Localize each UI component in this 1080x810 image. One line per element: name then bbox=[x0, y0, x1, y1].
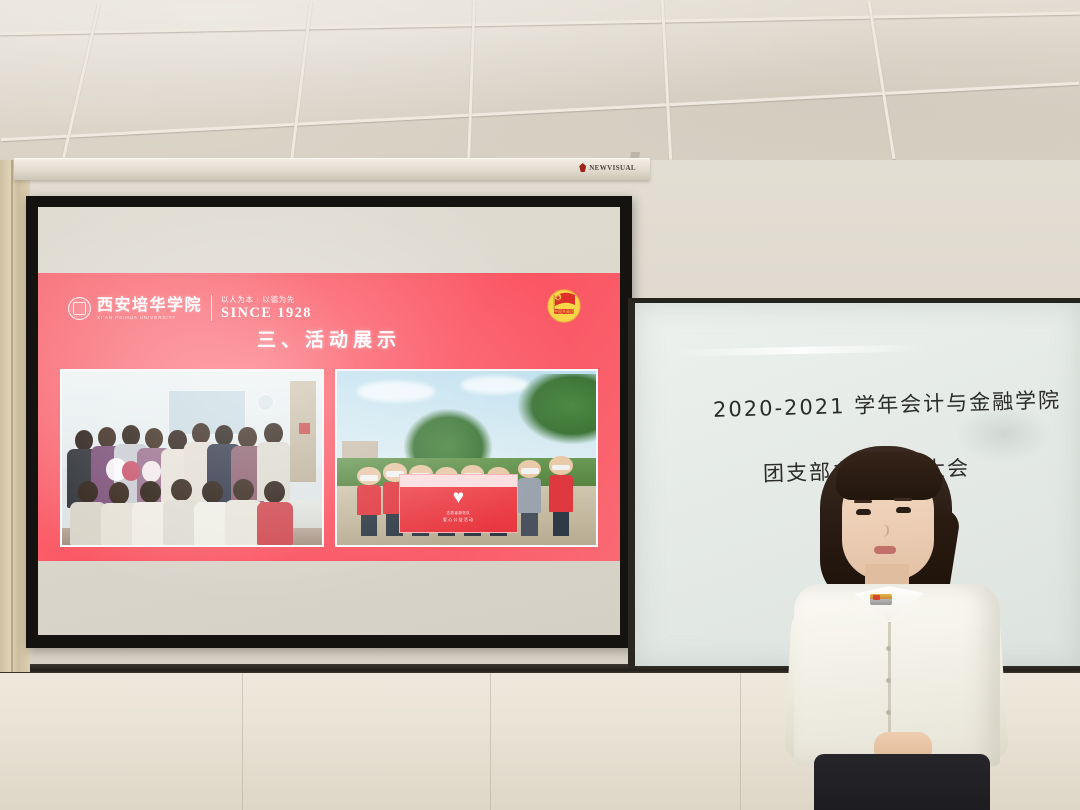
motto-block: 以人为本 · 以德为先 SINCE 1928 bbox=[221, 294, 312, 321]
projector-screen-case: NEWVISUAL bbox=[14, 158, 650, 180]
photo-person-head bbox=[192, 423, 210, 444]
classroom-scene: NEWVISUAL 西安培华学院 XI'AN PEIHUA UNIVERSITY bbox=[0, 0, 1080, 810]
photo-person-head bbox=[238, 427, 256, 448]
logo-divider bbox=[211, 295, 212, 321]
projection-screen-frame: 西安培华学院 XI'AN PEIHUA UNIVERSITY 以人为本 · 以德… bbox=[26, 196, 632, 648]
photo-balloon bbox=[142, 461, 160, 482]
photo-flowers bbox=[122, 461, 140, 480]
presentation-slide[interactable]: 西安培华学院 XI'AN PEIHUA UNIVERSITY 以人为本 · 以德… bbox=[38, 273, 620, 561]
photo-clock bbox=[257, 394, 274, 411]
university-motto: 以人为本 · 以德为先 bbox=[221, 294, 312, 305]
outdoor-volunteer-photo[interactable]: ♥ 志愿者服务队 爱心公益活动 bbox=[335, 369, 599, 547]
outdoor-photo-content: ♥ 志愿者服务队 爱心公益活动 bbox=[337, 371, 597, 545]
presenter-shirt-button bbox=[886, 678, 891, 683]
presenter bbox=[762, 432, 1052, 810]
photo-exit-sign bbox=[299, 423, 309, 433]
university-since: SINCE 1928 bbox=[221, 306, 312, 321]
university-name-cn: 西安培华学院 bbox=[97, 297, 202, 313]
wall-panel-seam bbox=[740, 673, 741, 810]
ceiling bbox=[0, 0, 1080, 168]
photo-person-head bbox=[75, 430, 93, 451]
slide-title: 三、活动展示 bbox=[38, 325, 620, 352]
photo-person-head bbox=[171, 479, 192, 502]
presenter-eye bbox=[896, 507, 911, 513]
presenter-shirt-button bbox=[886, 710, 891, 715]
photo-person-head bbox=[202, 481, 223, 504]
photo-volunteer bbox=[518, 460, 541, 537]
university-seal-icon bbox=[68, 297, 91, 320]
photo-person-head bbox=[98, 427, 116, 448]
slide-photo-row: ♥ 志愿者服务队 爱心公益活动 bbox=[60, 369, 598, 547]
photo-person-head bbox=[264, 423, 282, 444]
photo-person-head bbox=[215, 425, 233, 446]
indoor-photo-content bbox=[62, 371, 322, 545]
indoor-group-photo[interactable] bbox=[60, 369, 324, 547]
wall-panel-seam bbox=[242, 673, 243, 810]
photo-person-body bbox=[257, 502, 293, 546]
presenter-eyebrow bbox=[854, 500, 872, 503]
banner-top-strip bbox=[400, 475, 517, 488]
photo-volunteer bbox=[357, 467, 380, 537]
presenter-eye bbox=[856, 509, 871, 515]
brand-mark-icon bbox=[579, 163, 586, 172]
presenter-shirt-button bbox=[886, 646, 891, 651]
ceiling-texture bbox=[0, 0, 1080, 168]
projector-brand: NEWVISUAL bbox=[579, 163, 636, 172]
svg-text:中国共青团: 中国共青团 bbox=[554, 308, 574, 314]
banner-text-top: 志愿者服务队 bbox=[446, 510, 470, 515]
photo-volunteer bbox=[549, 456, 572, 536]
whiteboard-glare bbox=[671, 344, 929, 356]
school-badge-pin bbox=[870, 594, 892, 605]
presenter-mouth bbox=[874, 546, 896, 554]
wall-panel-seam bbox=[490, 673, 491, 810]
university-logo: 西安培华学院 XI'AN PEIHUA UNIVERSITY bbox=[68, 297, 202, 320]
heart-icon: ♥ bbox=[453, 488, 464, 507]
banner-text-bottom: 爱心公益活动 bbox=[443, 517, 474, 523]
projection-screen-surface: 西安培华学院 XI'AN PEIHUA UNIVERSITY 以人为本 · 以德… bbox=[38, 207, 620, 635]
photo-person-head bbox=[140, 481, 161, 504]
photo-person-head bbox=[122, 425, 140, 446]
communist-youth-league-emblem-icon: 中国共青团 bbox=[542, 281, 586, 325]
projector-brand-label: NEWVISUAL bbox=[589, 164, 636, 172]
university-name-en: XI'AN PEIHUA UNIVERSITY bbox=[97, 315, 202, 320]
presenter-fringe bbox=[836, 452, 942, 500]
presenter-eyebrow bbox=[894, 498, 912, 501]
university-name-block: 西安培华学院 XI'AN PEIHUA UNIVERSITY bbox=[97, 297, 202, 320]
photo-tree bbox=[518, 374, 598, 444]
photo-volunteer-banner: ♥ 志愿者服务队 爱心公益活动 bbox=[399, 474, 518, 533]
presenter-trousers bbox=[814, 754, 990, 810]
